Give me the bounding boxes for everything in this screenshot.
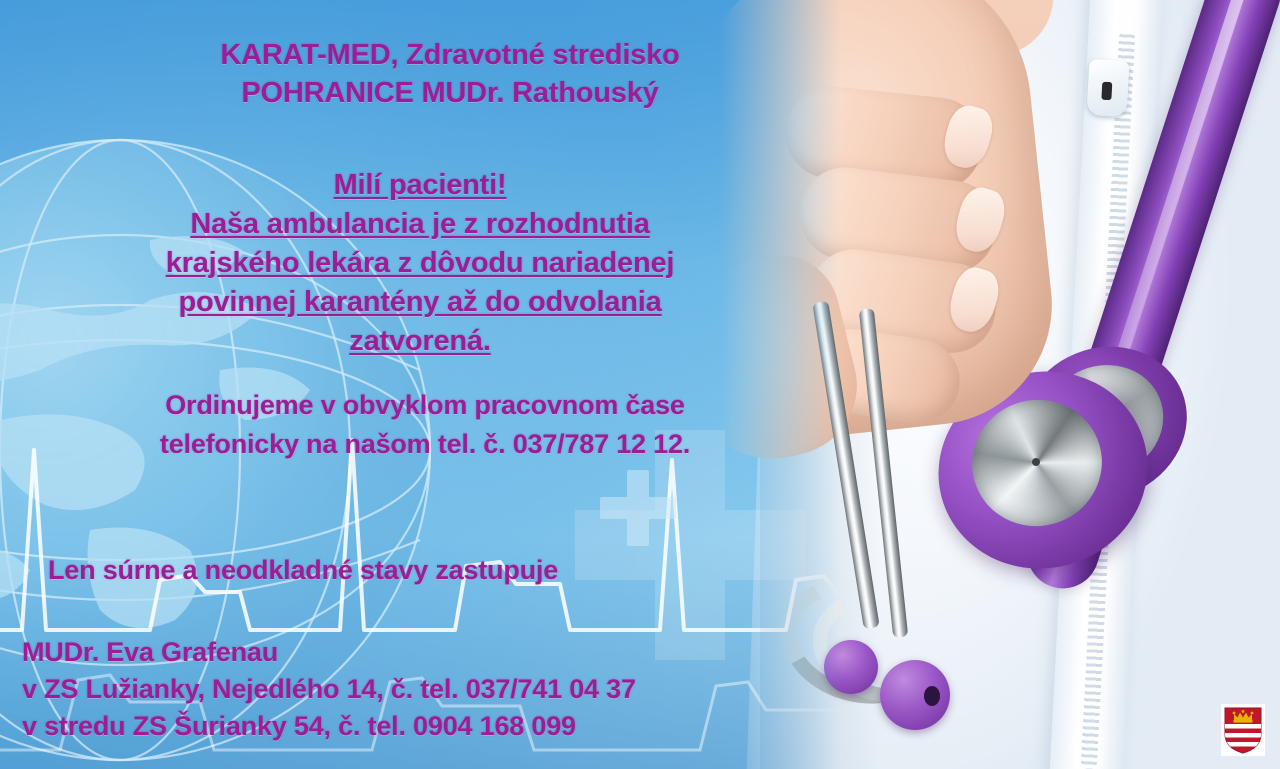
announcement-poster: KARAT-MED, Zdravotné stredisko POHRANICE…: [0, 0, 1280, 769]
hours-line-2: telefonicky na našom tel. č. 037/787 12 …: [0, 425, 850, 464]
clinic-name-line1: KARAT-MED, Zdravotné stredisko: [0, 36, 900, 74]
notice-line-4: zatvorená.: [349, 325, 490, 357]
notice-line-2: krajského lekára z dôvodu nariadenej: [166, 247, 675, 279]
substitute-location-1: v ZS Lužianky, Nejedlého 14, č. tel. 037…: [22, 671, 842, 708]
closure-notice: Milí pacienti! Naša ambulancia je z rozh…: [0, 166, 840, 361]
substitute-location-2: v stredu ZS Šurianky 54, č. tel. 0904 16…: [22, 708, 842, 745]
notice-line-3: povinnej karantény až do odvolania: [178, 286, 661, 318]
substitute-doctor-name: MUDr. Eva Grafenau: [22, 634, 842, 671]
clinic-header: KARAT-MED, Zdravotné stredisko POHRANICE…: [0, 36, 900, 112]
coat-of-arms: [1221, 704, 1265, 756]
urgent-cases-line: Len súrne a neodkladné stavy zastupuje: [48, 555, 558, 586]
notice-salutation: Milí pacienti!: [334, 169, 507, 201]
medical-cross-watermark: [600, 470, 676, 546]
stethoscope-eartip-front: [880, 660, 950, 730]
clinic-name-line2: POHRANICE MUDr. Rathouský: [0, 74, 900, 112]
notice-line-1: Naša ambulancia je z rozhodnutia: [190, 208, 649, 240]
office-hours-info: Ordinujeme v obvyklom pracovnom čase tel…: [0, 386, 850, 464]
substitute-doctor-info: MUDr. Eva Grafenau v ZS Lužianky, Nejedl…: [22, 634, 842, 745]
zipper-pull: [1087, 59, 1130, 117]
hours-line-1: Ordinujeme v obvyklom pracovnom čase: [0, 386, 850, 425]
